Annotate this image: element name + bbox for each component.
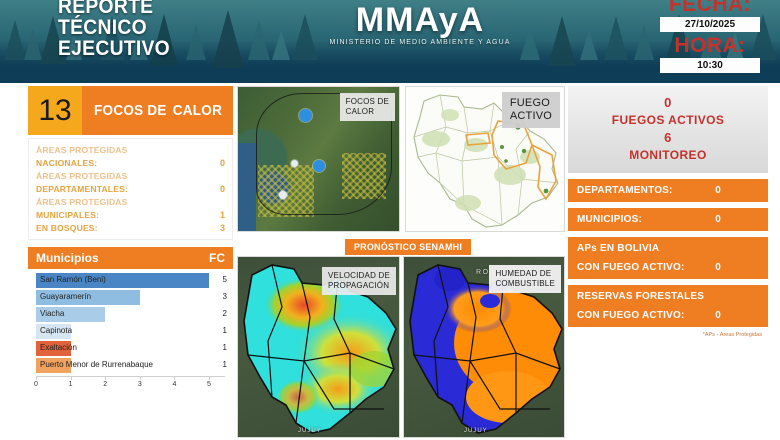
municipio-row[interactable]: San Ramón (Beni)5 xyxy=(28,272,233,289)
axis-tick-label: 0 xyxy=(34,381,38,388)
municipios-chart-header: Municipios FC xyxy=(28,247,233,269)
municipios-x-axis: 012345 xyxy=(36,376,225,392)
ap-row-2-toplabel: ÁREAS PROTEGIDAS xyxy=(36,196,225,209)
ap-row-0-label: NACIONALES: xyxy=(36,157,97,170)
hora-label: HORA: xyxy=(660,35,760,57)
mmaya-logo-subtitle: MINISTERIO DE MEDIO AMBIENTE Y AGUA xyxy=(320,39,520,46)
municipio-value: 1 xyxy=(223,326,227,335)
ap-row-2: MUNICIPALES: 1 xyxy=(36,209,225,222)
ap-row-1-label: DEPARTAMENTALES: xyxy=(36,183,128,196)
municipio-row[interactable]: Capinota1 xyxy=(28,323,233,340)
ap-row-1-toplabel: ÁREAS PROTEGIDAS xyxy=(36,170,225,183)
heat-spot-marker xyxy=(299,109,312,122)
axis-tick xyxy=(209,377,210,380)
fecha-label: FECHA: xyxy=(660,0,760,16)
ap-row-3: EN BOSQUES: 3 xyxy=(36,222,225,235)
municipio-name: Exaltación xyxy=(40,343,77,352)
jujuy-region-label: JUJUY xyxy=(464,428,488,434)
stat-municipios: MUNICIPIOS:0 xyxy=(568,208,768,231)
stat-municipios-label: MUNICIPIOS: xyxy=(577,214,642,225)
map-velocidad-label-line-1: VELOCIDAD DE xyxy=(328,271,390,281)
datetime-block: FECHA: 27/10/2025 HORA: 10:30 xyxy=(660,0,760,76)
map-fuego-activo[interactable]: FUEGO ACTIVO xyxy=(405,86,565,232)
jujuy-region-label: JUJUY xyxy=(298,428,322,434)
map-humedad-label-line-1: HUMEDAD DE xyxy=(495,269,555,279)
map-humedad-label: HUMEDAD DE COMBUSTIBLE xyxy=(489,265,561,293)
ap-row-0-value: 0 xyxy=(220,158,225,168)
stat-departamentos: DEPARTAMENTOS:0 xyxy=(568,179,768,202)
map-focos-de-calor[interactable]: FOCOS DE CALOR xyxy=(237,86,400,232)
page-header: REPORTE TÉCNICO EJECUTIVO MMAyA MINISTER… xyxy=(0,0,780,83)
municipio-name: Capinota xyxy=(40,326,72,335)
footnote: *APs - Áreas Protegidas xyxy=(568,332,768,338)
report-title: REPORTE TÉCNICO EJECUTIVO xyxy=(58,0,228,59)
areas-protegidas-box: ÁREAS PROTEGIDAS NACIONALES: 0 ÁREAS PRO… xyxy=(28,138,233,240)
fuegos-activos-count: 0 xyxy=(574,94,762,111)
heat-spot-marker xyxy=(313,160,325,172)
heat-spot-marker xyxy=(279,191,287,199)
municipio-name: Guayaramerín xyxy=(40,292,91,301)
ap-row-1: DEPARTAMENTALES: 0 xyxy=(36,183,225,196)
fecha-value: 27/10/2025 xyxy=(660,17,760,32)
axis-tick-label: 5 xyxy=(207,381,211,388)
pronostico-senamhi-banner: PRONÓSTICO SENAMHI xyxy=(345,239,471,255)
map-focos-label-line-2: CALOR xyxy=(346,107,389,117)
stat-aps-sublabel: CON FUEGO ACTIVO: xyxy=(577,262,684,273)
monitoreo-count: 6 xyxy=(574,129,762,146)
axis-tick-label: 4 xyxy=(172,381,176,388)
municipio-value: 2 xyxy=(223,309,227,318)
ap-row-2-label: MUNICIPALES: xyxy=(36,209,99,222)
hora-value: 10:30 xyxy=(660,58,760,73)
axis-tick xyxy=(71,377,72,380)
ap-row-3-label: EN BOSQUES: xyxy=(36,222,98,235)
municipio-value: 3 xyxy=(223,292,227,301)
map-focos-label-line-1: FOCOS DE xyxy=(346,97,389,107)
axis-tick xyxy=(140,377,141,380)
focos-title-line-1: FOCOS DE xyxy=(94,102,167,119)
map-fuego-label-line-2: ACTIVO xyxy=(510,110,552,123)
mmaya-logo-text: MMAyA xyxy=(320,2,520,38)
municipios-chart-card: Municipios FC San Ramón (Beni)5Guayarame… xyxy=(28,247,233,392)
axis-tick xyxy=(174,377,175,380)
left-panel: 13 FOCOS DE CALOR ÁREAS PROTEGIDAS NACIO… xyxy=(28,86,233,392)
heat-spot-marker xyxy=(291,160,298,167)
stat-reservas-forestales: RESERVAS FORESTALES CON FUEGO ACTIVO:0 xyxy=(568,285,768,327)
map-fuego-activo-label: FUEGO ACTIVO xyxy=(502,92,560,128)
stat-departamentos-label: DEPARTAMENTOS: xyxy=(577,185,673,196)
axis-tick-label: 3 xyxy=(138,381,142,388)
municipio-row[interactable]: Viacha2 xyxy=(28,306,233,323)
stat-aps-label: APs EN BOLIVIA xyxy=(577,243,659,254)
focos-title: FOCOS DE CALOR xyxy=(82,86,233,135)
map-velocidad-label: VELOCIDAD DE PROPAGACIÓN xyxy=(322,267,396,295)
stat-aps-bolivia: APs EN BOLIVIA CON FUEGO ACTIVO:0 xyxy=(568,237,768,279)
right-panel: 0 FUEGOS ACTIVOS 6 MONITOREO DEPARTAMENT… xyxy=(568,86,768,338)
municipio-row[interactable]: Exaltación1 xyxy=(28,340,233,357)
stat-municipios-value: 0 xyxy=(715,214,759,225)
municipio-value: 1 xyxy=(223,360,227,369)
axis-tick xyxy=(36,377,37,380)
map-fuego-label-line-1: FUEGO xyxy=(510,97,552,110)
report-title-line-2: TÉCNICO xyxy=(58,17,228,38)
focos-count: 13 xyxy=(28,86,82,135)
fuegos-activos-summary: 0 FUEGOS ACTIVOS 6 MONITOREO xyxy=(568,86,768,173)
municipio-value: 1 xyxy=(223,343,227,352)
ap-row-1-value: 0 xyxy=(220,184,225,194)
stat-reservas-sublabel: CON FUEGO ACTIVO: xyxy=(577,310,684,321)
map-velocidad-label-line-2: PROPAGACIÓN xyxy=(328,281,390,291)
municipios-header-value-label: FC xyxy=(209,251,225,265)
report-title-line-1: REPORTE xyxy=(58,0,228,17)
ap-row-3-value: 3 xyxy=(220,223,225,233)
report-title-line-3: EJECUTIVO xyxy=(58,38,228,59)
stat-departamentos-value: 0 xyxy=(715,185,759,196)
map-humedad-combustible[interactable]: RONDO JUJUY HUMEDAD DE COMBUSTIBLE xyxy=(403,256,565,438)
map-humedad-label-line-2: COMBUSTIBLE xyxy=(495,279,555,289)
axis-tick-label: 2 xyxy=(103,381,107,388)
municipio-name: Viacha xyxy=(40,309,64,318)
axis-tick xyxy=(105,377,106,380)
municipio-value: 5 xyxy=(223,275,227,284)
axis-tick-label: 1 xyxy=(69,381,73,388)
mmaya-logo: MMAyA MINISTERIO DE MEDIO AMBIENTE Y AGU… xyxy=(320,2,520,46)
stat-reservas-value: 0 xyxy=(715,310,759,321)
map-water-body xyxy=(238,143,256,232)
municipio-name: Puerto Menor de Rurrenabaque xyxy=(40,360,153,369)
stat-reservas-label: RESERVAS FORESTALES xyxy=(577,291,704,302)
stat-aps-value: 0 xyxy=(715,262,759,273)
municipio-row[interactable]: Guayaramerín3 xyxy=(28,289,233,306)
monitoreo-label: MONITOREO xyxy=(574,146,762,164)
focos-de-calor-header: 13 FOCOS DE CALOR xyxy=(28,86,233,135)
municipio-row[interactable]: Puerto Menor de Rurrenabaque1 xyxy=(28,357,233,374)
municipios-bar-list: San Ramón (Beni)5Guayaramerín3Viacha2Cap… xyxy=(28,269,233,374)
municipios-header-label: Municipios xyxy=(36,251,99,265)
ap-row-0: NACIONALES: 0 xyxy=(36,157,225,170)
ap-row-2-value: 1 xyxy=(220,210,225,220)
fuegos-activos-label: FUEGOS ACTIVOS xyxy=(574,111,762,129)
municipio-name: San Ramón (Beni) xyxy=(40,275,106,284)
focos-title-line-2: CALOR xyxy=(173,102,222,119)
map-focos-label: FOCOS DE CALOR xyxy=(340,93,395,121)
map-velocidad-propagacion[interactable]: RONDONIA JUJUY VELOCIDAD DE PROPAGACIÓN xyxy=(237,256,400,438)
ap-row-0-toplabel: ÁREAS PROTEGIDAS xyxy=(36,144,225,157)
